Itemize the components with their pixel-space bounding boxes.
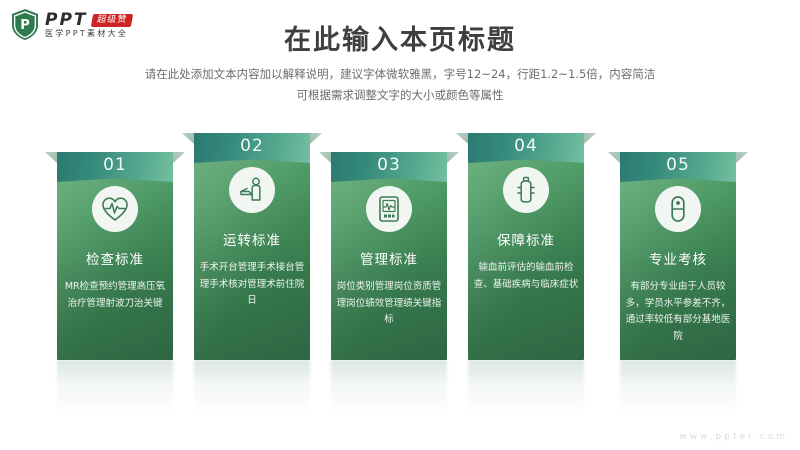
- card-title: 保障标准: [468, 229, 584, 249]
- card-number: 02: [240, 138, 264, 158]
- card-number: 03: [377, 157, 401, 177]
- card-body: 检查标准 MR检查预约管理高压氧治疗管理射波刀治关键: [57, 152, 173, 360]
- card-body: 运转标准 手术开台管理手术接台管理手术核对管理术前住院日: [194, 133, 310, 360]
- card-ribbon: 05: [608, 152, 748, 182]
- card-reflection: [620, 360, 736, 415]
- card-body: 保障标准 输血前评估的输血前检查、基础疾病与临床症状: [468, 133, 584, 360]
- card-reflection: [468, 360, 584, 415]
- card-02[interactable]: 02 运转标准 手术开台管理手术接台管理手术核对管理术前住院日: [194, 133, 310, 360]
- card-ribbon: 01: [45, 152, 185, 182]
- card-number: 05: [666, 157, 690, 177]
- card-body: 管理标准 岗位类别管理岗位资质管理岗位绩效管理绩关键指标: [331, 152, 447, 360]
- card-ribbon: 03: [319, 152, 459, 182]
- ribbon-wing-left: [182, 133, 194, 144]
- ribbon-wing-right: [310, 133, 322, 144]
- card-text: MR检查预约管理高压氧治疗管理射波刀治关键: [57, 279, 173, 328]
- ribbon-band: 04: [468, 133, 584, 163]
- card-title: 运转标准: [194, 229, 310, 249]
- ribbon-wing-left: [319, 152, 331, 163]
- card-number: 04: [514, 138, 538, 158]
- ribbon-wing-left: [608, 152, 620, 163]
- card-01[interactable]: 01 检查标准 MR检查预约管理高压氧治疗管理射波刀治关键: [57, 152, 173, 360]
- card-title: 检查标准: [57, 248, 173, 268]
- ribbon-wing-right: [736, 152, 748, 163]
- ribbon-band: 03: [331, 152, 447, 182]
- card-reflection: [194, 360, 310, 415]
- card-ribbon: 04: [456, 133, 596, 163]
- ribbon-band: 02: [194, 133, 310, 163]
- monitor-ecg-icon: [366, 186, 412, 232]
- card-reflection: [57, 360, 173, 415]
- card-05[interactable]: 05 专业考核 有部分专业由于人员较多，学员水平参差不齐，通过率较低有部分基地医…: [620, 152, 736, 360]
- ribbon-wing-left: [456, 133, 468, 144]
- card-number: 01: [103, 157, 127, 177]
- card-reflection: [331, 360, 447, 415]
- footer-watermark: www.ppter.com: [679, 432, 788, 442]
- card-body: 专业考核 有部分专业由于人员较多，学员水平参差不齐，通过率较低有部分基地医院: [620, 152, 736, 360]
- card-text: 输血前评估的输血前检查、基础疾病与临床症状: [468, 260, 584, 309]
- slide-root: P PPT 超级赞 医学PPT素材大全 在此输入本页标题 请在此处添加文本内容加…: [0, 0, 800, 450]
- ribbon-wing-left: [45, 152, 57, 163]
- card-text: 手术开台管理手术接台管理手术核对管理术前住院日: [194, 260, 310, 326]
- heart-pulse-icon: [92, 186, 138, 232]
- capsule-pill-icon: [655, 186, 701, 232]
- card-row: 01 检查标准 MR检查预约管理高压氧治疗管理射波刀治关键: [0, 0, 800, 450]
- card-ribbon: 02: [182, 133, 322, 163]
- doctor-hand-icon: [229, 167, 275, 213]
- card-title: 管理标准: [331, 248, 447, 268]
- card-04[interactable]: 04 保障标准 输血前评估的输血前检查、基础疾病与临床症状: [468, 133, 584, 360]
- blood-bag-icon: [503, 167, 549, 213]
- card-title: 专业考核: [620, 248, 736, 268]
- ribbon-band: 05: [620, 152, 736, 182]
- ribbon-wing-right: [584, 133, 596, 144]
- card-03[interactable]: 03 管理标准 岗位类别管理岗位资质管理岗位绩效管理绩关键指标: [331, 152, 447, 360]
- card-text: 有部分专业由于人员较多，学员水平参差不齐，通过率较低有部分基地医院: [620, 279, 736, 360]
- card-text: 岗位类别管理岗位资质管理岗位绩效管理绩关键指标: [331, 279, 447, 345]
- ribbon-band: 01: [57, 152, 173, 182]
